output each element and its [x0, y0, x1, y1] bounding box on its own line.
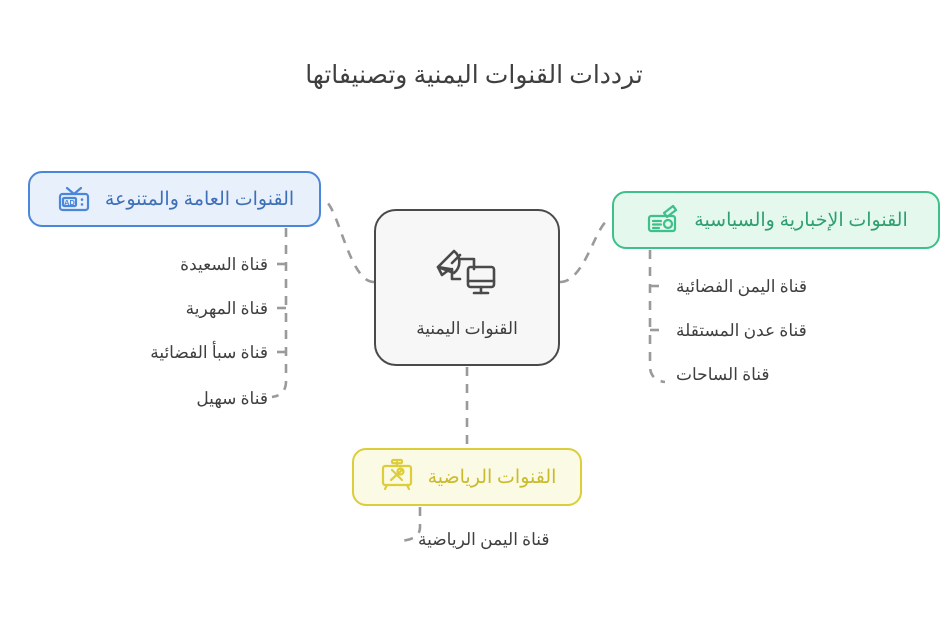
- connector-center-to-news: [560, 219, 611, 282]
- leaf-general-1[interactable]: قناة المهرية: [186, 300, 268, 317]
- center-node-label: القنوات اليمنية: [416, 320, 518, 337]
- tv-ad-icon: AD: [55, 178, 93, 221]
- center-node[interactable]: القنوات اليمنية: [374, 209, 560, 366]
- mindmap-canvas: ترددات القنوات اليمنية وتصنيفاتها القنوا…: [0, 0, 948, 618]
- page-title: ترددات القنوات اليمنية وتصنيفاتها: [0, 60, 948, 90]
- leaf-news-1[interactable]: قناة عدن المستقلة: [676, 322, 807, 339]
- svg-text:AD: AD: [64, 197, 75, 206]
- connector-sports-trunk: [400, 507, 420, 541]
- branch-node-sports-label: القنوات الرياضية: [428, 468, 557, 487]
- branch-node-news-label: القنوات الإخبارية والسياسية: [694, 211, 907, 230]
- leaf-sports-0[interactable]: قناة اليمن الرياضية: [418, 531, 550, 548]
- branch-node-general[interactable]: AD القنوات العامة والمتنوعة: [28, 171, 321, 227]
- branch-node-sports[interactable]: القنوات الرياضية: [352, 448, 582, 506]
- leaf-news-0[interactable]: قناة اليمن الفضائية: [676, 278, 807, 295]
- connector-center-to-general: [322, 199, 374, 282]
- connector-news-trunk: [650, 250, 665, 382]
- leaf-general-2[interactable]: قناة سبأ الفضائية: [150, 344, 268, 361]
- branch-node-general-label: القنوات العامة والمتنوعة: [105, 190, 294, 209]
- branch-node-news[interactable]: القنوات الإخبارية والسياسية: [612, 191, 940, 249]
- sports-scoreboard-icon: [378, 456, 416, 499]
- news-megaphone-icon: [644, 199, 682, 242]
- leaf-general-3[interactable]: قناة سهيل: [196, 390, 268, 407]
- connector-general-trunk: [272, 228, 286, 397]
- leaf-general-0[interactable]: قناة السعيدة: [180, 256, 268, 273]
- leaf-news-2[interactable]: قناة الساحات: [676, 366, 770, 383]
- satellite-dish-monitor-icon: [430, 239, 504, 306]
